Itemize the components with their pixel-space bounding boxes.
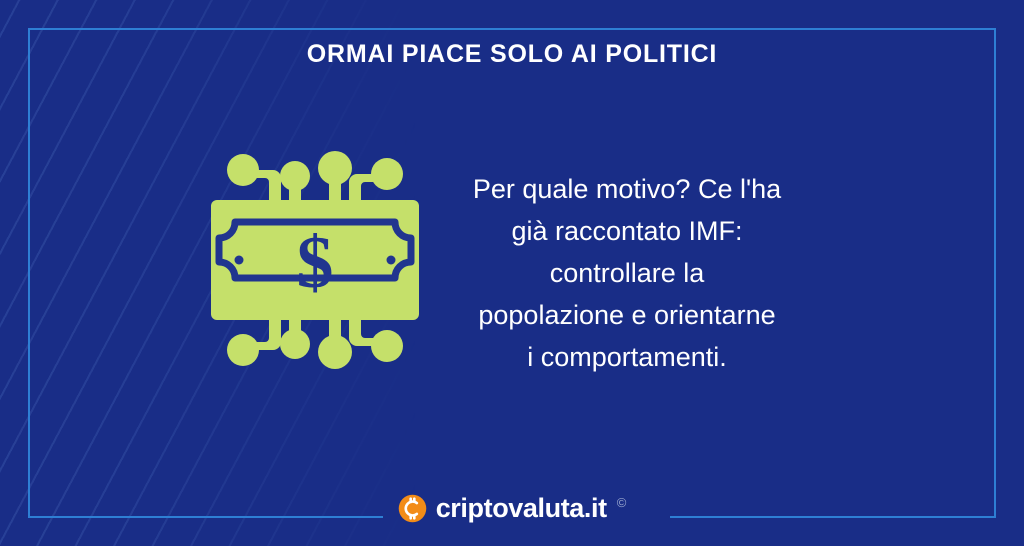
svg-text:$: $ [297,222,334,304]
copyright-mark: © [617,496,627,509]
brand-name: criptovaluta.it [436,495,607,522]
body-line: controllare la [432,252,822,294]
body-line: i comportamenti. [432,336,822,378]
criptovaluta-coin-icon [398,494,427,523]
frame-border-left [28,28,30,518]
body-text: Per quale motivo? Ce l'ha già raccontato… [432,168,822,378]
cbdc-chip-banknote-icon: $ [205,140,425,380]
body-line: Per quale motivo? Ce l'ha [432,168,822,210]
slide-canvas: ORMAI PIACE SOLO AI POLITICI [0,0,1024,546]
frame-border-top [28,28,996,30]
body-line: popolazione e orientarne [432,294,822,336]
brand-logo: criptovaluta.it © [0,494,1024,523]
frame-border-right [994,28,996,518]
page-title: ORMAI PIACE SOLO AI POLITICI [0,40,1024,69]
body-line: già raccontato IMF: [432,210,822,252]
